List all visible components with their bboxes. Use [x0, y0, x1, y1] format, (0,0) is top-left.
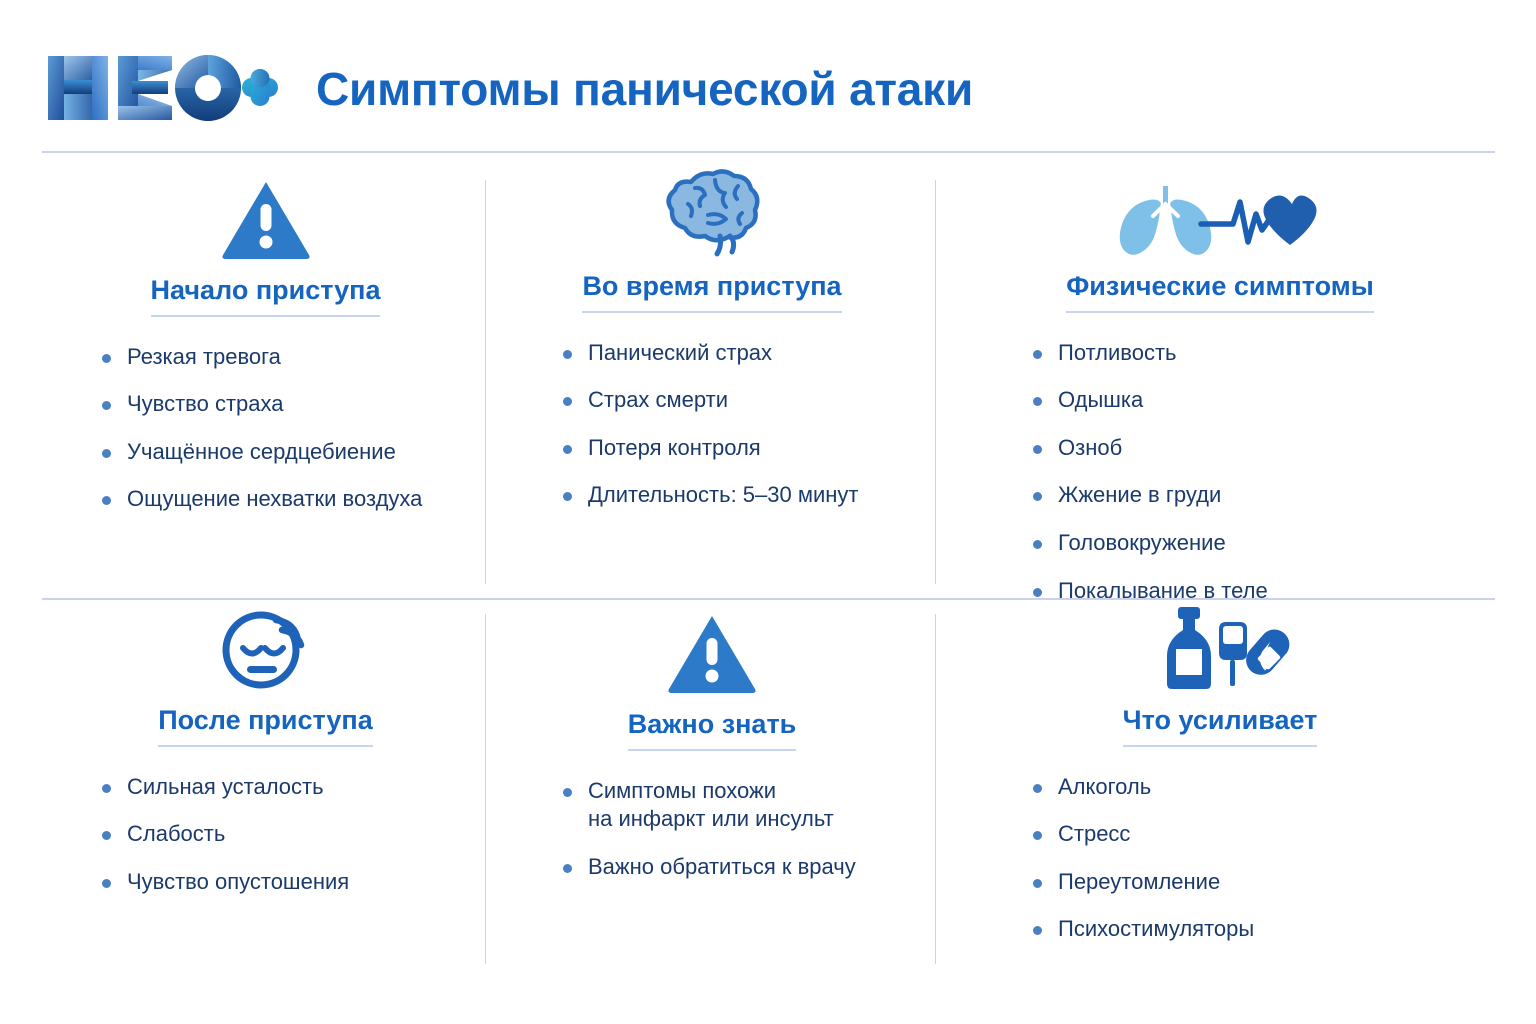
list-item: Алкоголь: [1031, 773, 1477, 802]
list-item: Панический страх: [561, 339, 917, 368]
list-item: Чувство опустошения: [100, 868, 467, 897]
card-bullet-list: Алкоголь Стресс Переутомление Психостиму…: [963, 773, 1477, 944]
card-icon: [64, 600, 467, 692]
card-title: После приступа: [158, 706, 373, 747]
warning-triangle-icon: [220, 178, 312, 262]
list-item: Психостимуляторы: [1031, 915, 1477, 944]
card-after-attack: После приступа Сильная усталость Слабост…: [42, 600, 485, 978]
card-heading: Физические симптомы: [963, 272, 1477, 313]
card-bullet-list: Симптомы похожи на инфаркт или инсульт В…: [507, 777, 917, 882]
header-divider: [42, 151, 1495, 153]
list-item: Сильная усталость: [100, 773, 467, 802]
card-important-to-know: Важно знать Симптомы похожи на инфаркт и…: [485, 600, 935, 978]
card-physical-symptoms: Физические симптомы Потливость Одышка Оз…: [935, 166, 1495, 598]
list-item: Резкая тревога: [100, 343, 467, 372]
list-item: Потливость: [1031, 339, 1477, 368]
list-item: Озноб: [1031, 434, 1477, 463]
card-heading: Начало приступа: [64, 276, 467, 317]
card-heading: Во время приступа: [507, 272, 917, 313]
card-heading: После приступа: [64, 706, 467, 747]
cards-row-top: Начало приступа Резкая тревога Чувство с…: [42, 166, 1495, 598]
card-title: Что усиливает: [1123, 706, 1318, 747]
page-title: Симптомы панической атаки: [316, 66, 973, 112]
list-item: Переутомление: [1031, 868, 1477, 897]
card-during-attack: Во время приступа Панический страх Страх…: [485, 166, 935, 598]
card-heading: Важно знать: [507, 710, 917, 751]
card-start-of-attack: Начало приступа Резкая тревога Чувство с…: [42, 166, 485, 598]
card-heading: Что усиливает: [963, 706, 1477, 747]
bottle-glass-pill-icon: [1150, 604, 1290, 692]
card-title: Важно знать: [628, 710, 797, 751]
list-item: Важно обратиться к врачу: [561, 853, 917, 882]
cards-row-bottom: После приступа Сильная усталость Слабост…: [42, 600, 1495, 978]
card-icon: [963, 600, 1477, 692]
list-item: Жжение в груди: [1031, 481, 1477, 510]
card-title: Начало приступа: [151, 276, 381, 317]
list-item: Ощущение нехватки воздуха: [100, 485, 467, 514]
list-item: Длительность: 5–30 минут: [561, 481, 917, 510]
lungs-heartbeat-heart-icon: [1109, 180, 1331, 258]
list-item: Слабость: [100, 820, 467, 849]
list-item: Головокружение: [1031, 529, 1477, 558]
card-icon: [507, 600, 917, 696]
card-icon: [963, 166, 1477, 258]
list-item: Стресс: [1031, 820, 1477, 849]
card-bullet-list: Резкая тревога Чувство страха Учащённое …: [64, 343, 467, 514]
cards-grid: Начало приступа Резкая тревога Чувство с…: [42, 166, 1495, 978]
card-title: Физические симптомы: [1066, 272, 1374, 313]
list-item: Страх смерти: [561, 386, 917, 415]
list-item: Симптомы похожи на инфаркт или инсульт: [561, 777, 917, 834]
brain-icon: [658, 166, 766, 258]
card-bullet-list: Сильная усталость Слабость Чувство опуст…: [64, 773, 467, 897]
list-item: Чувство страха: [100, 390, 467, 419]
card-icon: [507, 166, 917, 258]
warning-triangle-icon: [666, 612, 758, 696]
card-bullet-list: Панический страх Страх смерти Потеря кон…: [507, 339, 917, 510]
tired-face-icon: [216, 604, 316, 692]
list-item: Потеря контроля: [561, 434, 917, 463]
card-title: Во время приступа: [582, 272, 841, 313]
infographic-page: Симптомы панической атаки Начало прис: [0, 0, 1536, 1024]
card-icon: [64, 166, 467, 262]
header: Симптомы панической атаки: [42, 38, 1495, 138]
list-item: Учащённое сердцебиение: [100, 438, 467, 467]
card-what-worsens: Что усиливает Алкоголь Стресс Переутомле…: [935, 600, 1495, 978]
list-item: Одышка: [1031, 386, 1477, 415]
neo-plus-logo: [42, 50, 282, 126]
card-bullet-list: Потливость Одышка Озноб Жжение в груди Г…: [963, 339, 1477, 606]
